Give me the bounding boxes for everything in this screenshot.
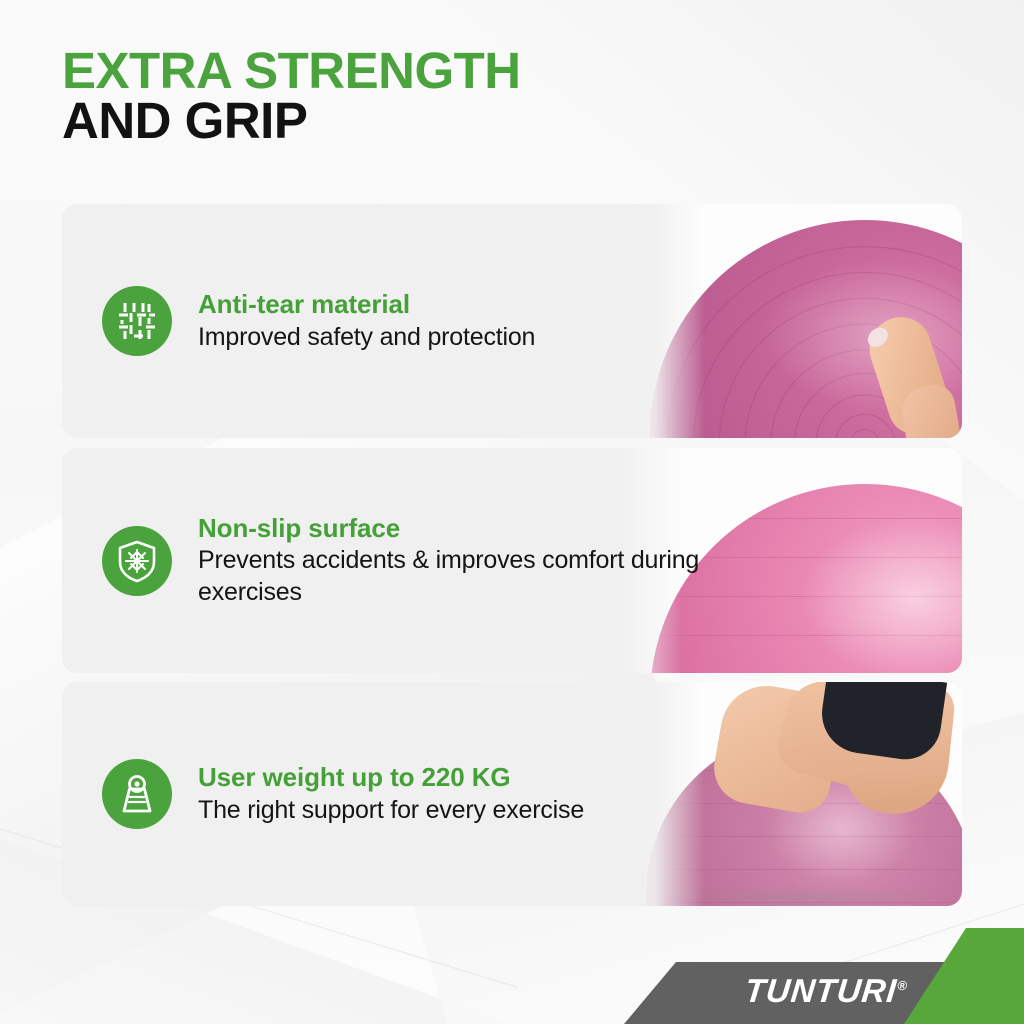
woven-mesh-icon: [102, 286, 172, 356]
footer-logo-bar: TUNTURI®: [0, 928, 1024, 1024]
feature-card-user-weight: TUNTURI® User weight up to 220 KG The ri…: [62, 682, 962, 906]
brand-name: TUNTURI: [743, 972, 899, 1009]
ball-shadow: [656, 884, 956, 906]
feature-card-anti-tear: Anti-tear material Improved safety and p…: [62, 204, 962, 438]
feature-text-block: Anti-tear material Improved safety and p…: [198, 289, 535, 353]
feature-title: Non-slip surface: [198, 513, 728, 545]
feature-text-block: User weight up to 220 KG The right suppo…: [198, 762, 584, 826]
feature-subtitle: The right support for every exercise: [198, 795, 584, 827]
feature-text-block: Non-slip surface Prevents accidents & im…: [198, 513, 728, 609]
page-title: EXTRA STRENGTH AND GRIP: [62, 46, 521, 147]
trademark-symbol: ®: [896, 978, 907, 993]
feature-subtitle: Prevents accidents & improves comfort du…: [198, 545, 728, 608]
shield-grip-icon: [102, 526, 172, 596]
person-leaning-on-exercise-ball-photo: TUNTURI®: [632, 682, 962, 906]
feature-title: Anti-tear material: [198, 289, 535, 321]
weight-icon: [102, 759, 172, 829]
feature-subtitle: Improved safety and protection: [198, 322, 535, 354]
brand-logo: TUNTURI®: [743, 972, 908, 1010]
headline-line-1: EXTRA STRENGTH: [62, 46, 521, 96]
exercise-ball-finger-press-photo: [632, 204, 962, 438]
feature-title: User weight up to 220 KG: [198, 762, 584, 794]
headline-line-2: AND GRIP: [62, 96, 521, 146]
feature-card-non-slip: Non-slip surface Prevents accidents & im…: [62, 448, 962, 673]
